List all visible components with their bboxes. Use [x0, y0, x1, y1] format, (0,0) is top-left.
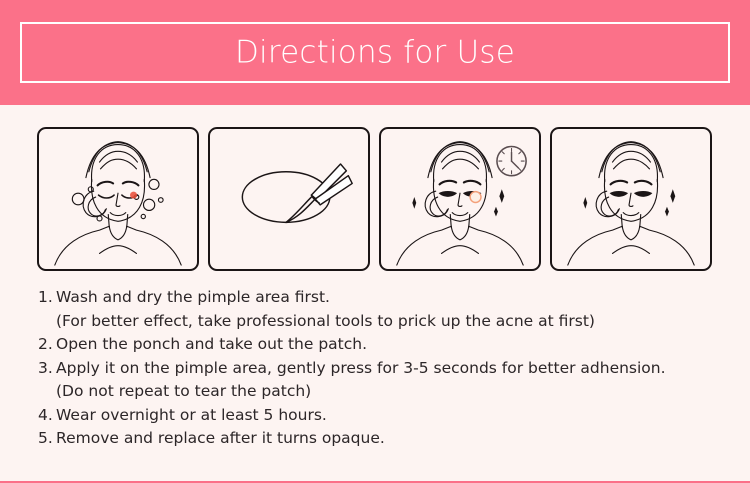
page-title: Directions for Use: [22, 37, 728, 68]
panel-apply-patch: [379, 127, 541, 271]
list-item: (Do not repeat to tear the patch): [38, 380, 718, 404]
list-item: 4. Wear overnight or at least 5 hours.: [38, 404, 718, 428]
panel-clear-skin: [550, 127, 712, 271]
header-banner: Directions for Use: [0, 0, 750, 105]
list-item: 2. Open the ponch and take out the patch…: [38, 333, 718, 357]
list-item-text: Wash and dry the pimple area first.: [56, 286, 718, 310]
instruction-list: 1. Wash and dry the pimple area first. (…: [38, 286, 718, 451]
list-item: 1. Wash and dry the pimple area first.: [38, 286, 718, 310]
list-item: 5. Remove and replace after it turns opa…: [38, 427, 718, 451]
list-item-number: 4.: [38, 404, 56, 428]
list-item-text: Open the ponch and take out the patch.: [56, 333, 718, 357]
list-item-text: Apply it on the pimple area, gently pres…: [56, 357, 718, 381]
panel-wash-face: [37, 127, 199, 271]
list-item-number: 2.: [38, 333, 56, 357]
list-item-number: 3.: [38, 357, 56, 381]
list-item: (For better effect, take professional to…: [38, 310, 718, 334]
list-item-text: (Do not repeat to tear the patch): [56, 380, 718, 404]
instruction-page: Directions for Use: [0, 0, 750, 483]
list-item-text: (For better effect, take professional to…: [56, 310, 718, 334]
list-item-text: Remove and replace after it turns opaque…: [56, 427, 718, 451]
list-item-number: 5.: [38, 427, 56, 451]
list-item-number: 1.: [38, 286, 56, 310]
applied-patch: [470, 192, 481, 203]
illustration-panel-row: [37, 127, 713, 271]
header-banner-border: Directions for Use: [20, 22, 730, 83]
panel-tweezers-patch: [208, 127, 370, 271]
clock-icon: [497, 147, 526, 176]
list-item: 3. Apply it on the pimple area, gently p…: [38, 357, 718, 381]
pimple-spot: [130, 192, 137, 199]
list-item-text: Wear overnight or at least 5 hours.: [56, 404, 718, 428]
